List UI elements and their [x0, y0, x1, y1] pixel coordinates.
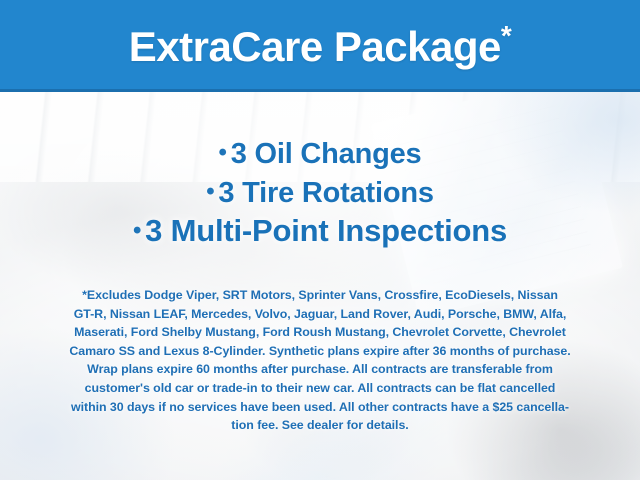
disclaimer-line: *Excludes Dodge Viper, SRT Motors, Sprin… — [22, 286, 618, 305]
header-band: ExtraCare Package* — [0, 0, 640, 89]
disclaimer-line: Maserati, Ford Shelby Mustang, Ford Rous… — [22, 323, 618, 342]
disclaimer-line: Wrap plans expire 60 months after purcha… — [22, 360, 618, 379]
page-title: ExtraCare Package* — [129, 22, 512, 68]
disclaimer-line: Camaro SS and Lexus 8-Cylinder. Syntheti… — [22, 342, 618, 361]
disclaimer-line: within 30 days if no services have been … — [22, 398, 618, 417]
feature-label: 3 Oil Changes — [231, 138, 422, 170]
disclaimer-line: GT-R, Nissan LEAF, Mercedes, Volvo, Jagu… — [22, 305, 618, 324]
list-item: •3 Tire Rotations — [0, 173, 640, 212]
list-item: •3 Oil Changes — [0, 134, 640, 173]
disclaimer-line: customer's old car or trade-in to their … — [22, 379, 618, 398]
list-item: •3 Multi-Point Inspections — [0, 212, 640, 250]
extracare-promo-banner: ExtraCare Package* •3 Oil Changes •3 Tir… — [0, 0, 640, 480]
header-divider-rule — [0, 89, 640, 92]
page-title-text: ExtraCare Package — [129, 23, 501, 70]
page-title-asterisk: * — [501, 20, 511, 51]
bullet-icon: • — [219, 139, 227, 166]
disclaimer-text: *Excludes Dodge Viper, SRT Motors, Sprin… — [22, 286, 618, 435]
disclaimer-line: tion fee. See dealer for details. — [22, 416, 618, 435]
bullet-icon: • — [133, 217, 141, 244]
feature-label: 3 Multi-Point Inspections — [145, 213, 507, 248]
feature-label: 3 Tire Rotations — [218, 177, 433, 209]
bullet-icon: • — [206, 178, 214, 205]
feature-list: •3 Oil Changes •3 Tire Rotations •3 Mult… — [0, 134, 640, 250]
